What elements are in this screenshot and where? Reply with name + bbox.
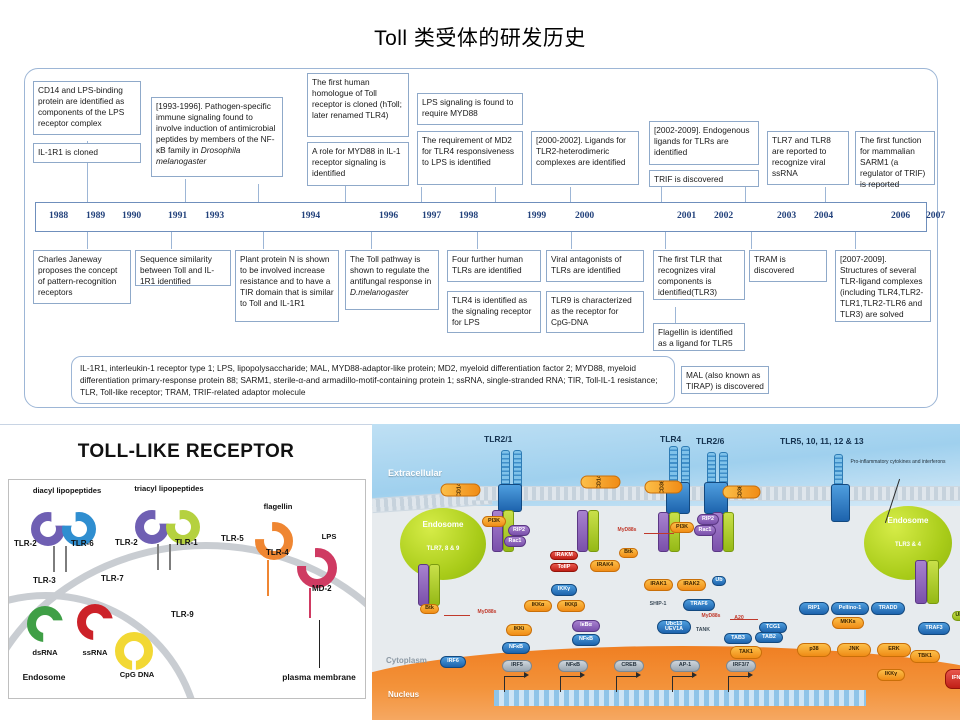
stem bbox=[571, 232, 572, 249]
timeline-box-plant-protein-n: Plant protein N is shown to be involved … bbox=[235, 250, 339, 322]
label-tlr5-etc: TLR5, 10, 11, 12 & 13 bbox=[780, 436, 864, 446]
receptor-tlr2-a: TLR-2 bbox=[14, 539, 37, 548]
receptor-tlr4: TLR-4 bbox=[266, 548, 289, 557]
pathway-node-ikkg: IKKγ bbox=[551, 584, 577, 596]
pathway-node-nfkb-l: NFκB bbox=[502, 642, 530, 654]
timeline-box-lps-myd88: LPS signaling is found to require MYD88 bbox=[417, 93, 523, 125]
tlr5-tm bbox=[831, 484, 850, 522]
ligand-label: LPS bbox=[322, 532, 337, 541]
tlr4-stalk bbox=[309, 588, 311, 618]
tlr2-horseshoe-b bbox=[135, 510, 169, 544]
pathway-node-ubc13: Ubc13 UEV1A bbox=[657, 620, 691, 634]
tf-arrow-head bbox=[636, 672, 641, 678]
ligand-dsrna: dsRNA bbox=[21, 648, 69, 657]
box-text: MAL (also known as TIRAP) is discovered bbox=[686, 370, 764, 391]
slide-root: Toll 类受体的研发历史 CD14 and LPS-binding prote… bbox=[0, 0, 960, 720]
ligand-label: triacyl lipopeptides bbox=[134, 484, 203, 493]
transcription-factor-nfkb-n: NFκB bbox=[558, 660, 588, 672]
pathway-node-cd36: CD36 bbox=[645, 481, 683, 494]
pathway-node-ikkb: IKKβ bbox=[557, 600, 585, 612]
tf-arrow-horizontal bbox=[560, 676, 582, 677]
stem bbox=[87, 232, 88, 249]
pathway-node-p38: p38 bbox=[797, 643, 831, 657]
timeline-box-endogenous-ligands: [2002-2009]. Endogenous ligands for TLRs… bbox=[649, 121, 759, 165]
ligand-flagellin: flagellin bbox=[247, 502, 309, 511]
pathway-node-tank: TANK bbox=[690, 626, 716, 635]
box-text: Flagellin is identified as a ligand for … bbox=[658, 327, 733, 348]
stem bbox=[495, 187, 496, 202]
tlr-signaling-panel: Endosome TLR7, 8 & 9 Endosome TLR3 & 4 E… bbox=[372, 424, 960, 720]
receptor-tlr6: TLR-6 bbox=[71, 539, 94, 548]
tlr6-stalk bbox=[65, 546, 67, 572]
timeline-box-pathogen-specific: [1993-1996]. Pathogen-specific immune si… bbox=[151, 97, 283, 177]
adaptor-myd88-b bbox=[588, 510, 599, 552]
compartment-label: plasma membrane bbox=[282, 672, 356, 682]
year-label: 2000 bbox=[575, 210, 594, 221]
pathway-node-cd14c: CD36 bbox=[723, 486, 761, 499]
tlr2-stalk-b bbox=[157, 544, 159, 570]
label-extracellular: Extracellular bbox=[388, 468, 442, 478]
timeline-box-first-tlr-viral: The first TLR that recognizes viral comp… bbox=[653, 250, 745, 300]
ligand-label: diacyl lipopeptides bbox=[33, 486, 101, 495]
timeline-box-first-human-homologue: The first human homologue of Toll recept… bbox=[307, 73, 409, 137]
timeline-box-md2-tlr4: The requirement of MD2 for TLR4 responsi… bbox=[417, 131, 523, 185]
year-label: 2001 bbox=[677, 210, 696, 221]
box-text: The requirement of MD2 for TLR4 responsi… bbox=[422, 135, 514, 167]
tlr1-stalk bbox=[169, 544, 171, 570]
timeline-box-sarm1: The first function for mammalian SARM1 (… bbox=[855, 131, 935, 185]
box-text: A role for MYD88 in IL-1 receptor signal… bbox=[312, 146, 401, 178]
stem bbox=[345, 184, 346, 202]
ligand-label: ssRNA bbox=[83, 648, 108, 657]
pathway-node-pellino: Pellino-1 bbox=[831, 602, 869, 615]
year-label: 2003 bbox=[777, 210, 796, 221]
timeline-box-sequence-similarity: Sequence similarity between Toll and IL-… bbox=[135, 250, 231, 286]
receptor-label: TLR-4 bbox=[266, 548, 289, 557]
abbreviations-box: IL-1R1, interleukin-1 receptor type 1; L… bbox=[71, 356, 675, 404]
receptor-label: TLR-2 bbox=[115, 538, 138, 547]
stem bbox=[665, 232, 666, 249]
tf-arrow-vertical bbox=[504, 676, 505, 692]
year-axis: 1988 1989 1990 1991 1993 1994 1996 1997 … bbox=[35, 202, 927, 232]
ligand-label: CpG DNA bbox=[120, 670, 155, 679]
pathway-node-tak1: TAK1 bbox=[730, 646, 762, 659]
tlr-heading: TOLL-LIKE RECEPTOR bbox=[0, 441, 372, 463]
pathway-node-nfkb-c: NFκB bbox=[572, 634, 600, 646]
stem bbox=[745, 187, 746, 202]
label-tlr26: TLR2/6 bbox=[696, 436, 724, 446]
stem bbox=[185, 179, 186, 202]
tf-arrow-horizontal bbox=[616, 676, 638, 677]
pathway-node-ifn: IFNβ and IFNα bbox=[945, 669, 960, 689]
box-text: Sequence similarity between Toll and IL-… bbox=[140, 254, 214, 286]
pathway-node-traf6: TRAF6 bbox=[683, 599, 715, 611]
box-text: The first TLR that recognizes viral comp… bbox=[658, 254, 722, 297]
adaptor-mal-c bbox=[658, 512, 669, 552]
pathway-node-pi3k1: PI3K bbox=[482, 516, 506, 527]
label-tlr21: TLR2/1 bbox=[484, 434, 512, 444]
pathway-node-rac1a: Rac1 bbox=[504, 536, 526, 547]
tlr-figure: diacyl lipopeptides TLR-2 TLR-6 triacyl … bbox=[8, 479, 366, 699]
tlr-cartoon-panel: TOLL-LIKE RECEPTOR diacyl lipopeptides T… bbox=[0, 424, 372, 721]
endosome-left-content: TLR7, 8 & 9 bbox=[400, 546, 486, 552]
endosome-left bbox=[400, 508, 486, 580]
year-label: 1990 bbox=[122, 210, 141, 221]
label-cytoplasm: Cytoplasm bbox=[386, 656, 427, 665]
tf-arrow-head bbox=[580, 672, 585, 678]
myd88s-inhibitor-bar-a bbox=[444, 615, 470, 616]
myd88s-inhibitor-bar-b bbox=[644, 533, 674, 534]
ligand-ssrna: ssRNA bbox=[71, 648, 119, 657]
adaptor-tram bbox=[927, 560, 939, 604]
pathway-node-btk2: Btk bbox=[420, 604, 439, 614]
timeline-box-tlr7-tlr8: TLR7 and TLR8 are reported to recognize … bbox=[767, 131, 849, 185]
tf-arrow-head bbox=[524, 672, 529, 678]
timeline-box-four-further-tlrs: Four further human TLRs are identified bbox=[447, 250, 541, 282]
stem bbox=[855, 232, 856, 249]
stem bbox=[371, 232, 372, 249]
pathway-node-irf6: IRF6 bbox=[440, 656, 466, 668]
year-label: 2006 bbox=[891, 210, 910, 221]
pathway-node-mkks: MKKs bbox=[832, 617, 864, 629]
tf-arrow-head bbox=[692, 672, 697, 678]
timeline-panel: CD14 and LPS-binding protein are identif… bbox=[24, 68, 938, 408]
receptor-tlr2-b: TLR-2 bbox=[115, 538, 138, 547]
pathway-node-irakm: IRAKM bbox=[550, 551, 578, 560]
timeline-box-tram: TRAM is discovered bbox=[749, 250, 827, 282]
pathway-node-ship1: SHIP-1 bbox=[643, 600, 673, 609]
box-text: Charles Janeway proposes the concept of … bbox=[38, 254, 117, 297]
endosome-left-title: Endosome bbox=[400, 520, 486, 529]
stem bbox=[258, 184, 259, 202]
ligand-label: dsRNA bbox=[32, 648, 57, 657]
timeline-box-myd88-role: A role for MYD88 in IL-1 receptor signal… bbox=[307, 142, 409, 186]
timeline-box-toll-antifungal: The Toll pathway is shown to regulate th… bbox=[345, 250, 439, 310]
box-text: The first function for mammalian SARM1 (… bbox=[860, 135, 925, 189]
tf-arrow-head bbox=[748, 672, 753, 678]
box-text: The first human homologue of Toll recept… bbox=[312, 77, 402, 120]
pathway-node-irak2: IRAK2 bbox=[677, 579, 706, 591]
pathway-node-tollip: ToIIP bbox=[550, 563, 578, 572]
timeline-box-structures-solved: [2007-2009]. Structures of several TLR-l… bbox=[835, 250, 931, 322]
compartment-label: Endosome bbox=[23, 672, 66, 682]
year-label: 1989 bbox=[86, 210, 105, 221]
timeline-box-cd14: CD14 and LPS-binding protein are identif… bbox=[33, 81, 141, 135]
year-label: 1993 bbox=[205, 210, 224, 221]
pathway-node-pi3k2: PI3K bbox=[670, 522, 694, 533]
ligand-label: flagellin bbox=[264, 502, 293, 511]
pathway-node-ikki: IKKi bbox=[506, 624, 532, 636]
box-text: Four further human TLRs are identified bbox=[452, 254, 523, 275]
proinflammatory-annotation: Pro-inflammatory cytokines and interfero… bbox=[850, 460, 946, 466]
receptor-label: TLR-7 bbox=[101, 574, 124, 583]
pathway-node-ub2: Ub bbox=[952, 611, 960, 621]
receptor-label: MD-2 bbox=[312, 584, 332, 593]
pathway-node-cd14b: CD14 bbox=[581, 476, 621, 489]
stem bbox=[477, 232, 478, 249]
pathway-node-ikkg2: IKKγ bbox=[877, 669, 905, 681]
timeline-box-janeway: Charles Janeway proposes the concept of … bbox=[33, 250, 131, 304]
pathway-node-rac1b: Rac1 bbox=[694, 525, 716, 536]
dna-strand bbox=[494, 690, 866, 706]
adaptor-myd88-d bbox=[723, 512, 734, 552]
box-text: LPS signaling is found to require MYD88 bbox=[422, 97, 513, 118]
pathway-node-ikka: IKKα bbox=[524, 600, 552, 612]
timeline-box-flagellin-tlr5: Flagellin is identified as a ligand for … bbox=[653, 323, 745, 351]
timeline-box-trif: TRIF is discovered bbox=[649, 170, 759, 187]
pathway-node-tab3: TAB3 bbox=[724, 633, 752, 644]
year-label: 1994 bbox=[301, 210, 320, 221]
transcription-factor-creb: CREB bbox=[614, 660, 644, 672]
tf-arrow-vertical bbox=[560, 676, 561, 692]
receptor-label: TLR-6 bbox=[71, 539, 94, 548]
year-label: 1998 bbox=[459, 210, 478, 221]
pathway-node-rip1: RIP1 bbox=[799, 602, 829, 615]
myd88s-label-c: MyD88s bbox=[692, 614, 730, 620]
box-text: TLR7 and TLR8 are reported to recognize … bbox=[772, 135, 831, 178]
endosome-right-content: TLR3 & 4 bbox=[864, 542, 952, 548]
receptor-tlr5: TLR-5 bbox=[221, 534, 244, 543]
box-text: TRIF is discovered bbox=[654, 174, 723, 184]
pathway-node-rip2b: RIP2 bbox=[697, 514, 719, 525]
box-text: IL-1R1 is cloned bbox=[38, 147, 98, 157]
box-text: [2000-2002]. Ligands for TLR2-heterodime… bbox=[536, 135, 626, 167]
stem bbox=[171, 232, 172, 249]
pathway-node-tbk1: TBK1 bbox=[910, 650, 940, 663]
tf-arrow-vertical bbox=[672, 676, 673, 692]
receptor-label: TLR-1 bbox=[175, 538, 198, 547]
box-text: [2002-2009]. Endogenous ligands for TLRs… bbox=[654, 125, 750, 157]
stem bbox=[570, 187, 571, 202]
year-label: 2007 bbox=[926, 210, 945, 221]
box-text: Plant protein N is shown to be involved … bbox=[240, 254, 334, 308]
transcription-factor-irf5: IRF5 bbox=[502, 660, 532, 672]
receptor-label: TLR-3 bbox=[33, 576, 56, 585]
year-label: 2002 bbox=[714, 210, 733, 221]
year-label: 2004 bbox=[814, 210, 833, 221]
ligand-lps: LPS bbox=[309, 532, 349, 541]
tf-arrow-vertical bbox=[616, 676, 617, 692]
endosome-right-title: Endosome bbox=[864, 516, 952, 525]
tlr4-horseshoe bbox=[297, 548, 337, 588]
page-title: Toll 类受体的研发历史 bbox=[0, 22, 960, 52]
pathway-node-ub1: Ub bbox=[712, 576, 726, 586]
box-text: CD14 and LPS-binding protein are identif… bbox=[38, 85, 124, 128]
ligand-cpgdna: CpG DNA bbox=[107, 670, 167, 679]
adaptor-endo-left2 bbox=[429, 564, 440, 606]
tf-arrow-horizontal bbox=[728, 676, 750, 677]
box-text: TLR4 is identified as the signaling rece… bbox=[452, 295, 531, 327]
adaptor-mal-b bbox=[577, 510, 588, 552]
plasma-membrane-pointer bbox=[319, 620, 320, 668]
year-label: 1988 bbox=[49, 210, 68, 221]
pathway-node-btk1: Btk bbox=[619, 548, 638, 558]
myd88s-label-b: MyD88s bbox=[608, 528, 646, 534]
box-text: TRAM is discovered bbox=[754, 254, 794, 275]
tf-arrow-vertical bbox=[728, 676, 729, 692]
year-label: 1996 bbox=[379, 210, 398, 221]
pathway-node-tradd: TRADD bbox=[871, 602, 905, 615]
receptor-md2: MD-2 bbox=[312, 584, 332, 593]
box-text: Viral antagonists of TLRs are identified bbox=[551, 254, 621, 275]
year-label: 1991 bbox=[168, 210, 187, 221]
box-text: [2007-2009]. Structures of several TLR-l… bbox=[840, 254, 923, 319]
pathway-node-ikba: IκBα bbox=[572, 620, 600, 632]
timeline-box-viral-antagonists: Viral antagonists of TLRs are identified bbox=[546, 250, 644, 282]
transcription-factor-irf37: IRF3/7 bbox=[726, 660, 756, 672]
receptor-tlr1: TLR-1 bbox=[175, 538, 198, 547]
year-label: 1997 bbox=[422, 210, 441, 221]
label-tlr4: TLR4 bbox=[660, 434, 681, 444]
pathway-node-cd14a: CD14 bbox=[441, 484, 481, 497]
timeline-box-tlr4-signaling: TLR4 is identified as the signaling rece… bbox=[447, 291, 541, 333]
receptor-tlr9: TLR-9 bbox=[171, 610, 194, 619]
timeline-box-tlr2-heterodimeric: [2000-2002]. Ligands for TLR2-heterodime… bbox=[531, 131, 639, 185]
stem bbox=[661, 187, 662, 202]
stem bbox=[825, 187, 826, 202]
adaptor-trif bbox=[915, 560, 927, 604]
timeline-box-il1r1-cloned: IL-1R1 is cloned bbox=[33, 143, 141, 163]
myd88s-label-a: MyD88s bbox=[468, 610, 506, 616]
year-label: 1999 bbox=[527, 210, 546, 221]
pathway-node-irak4: IRAK4 bbox=[590, 560, 620, 572]
ligand-diacyl: diacyl lipopeptides bbox=[29, 486, 105, 495]
pathway-node-traf3: TRAF3 bbox=[918, 622, 950, 635]
label-endosome: Endosome bbox=[13, 672, 75, 682]
label-nucleus: Nucleus bbox=[388, 690, 419, 699]
tlr2-stalk-a bbox=[53, 546, 55, 572]
stem bbox=[751, 232, 752, 249]
transcription-factor-ap1: AP-1 bbox=[670, 660, 700, 672]
tlr5-stalk bbox=[267, 560, 269, 596]
pathway-node-irak1: IRAK1 bbox=[644, 579, 673, 591]
box-text: TLR9 is characterized as the receptor fo… bbox=[551, 295, 632, 327]
ligand-triacyl: triacyl lipopeptides bbox=[131, 484, 207, 493]
receptor-label: TLR-9 bbox=[171, 610, 194, 619]
pathway-node-erk: ERK bbox=[877, 643, 911, 657]
receptor-tlr7: TLR-7 bbox=[101, 574, 124, 583]
receptor-label: TLR-5 bbox=[221, 534, 244, 543]
tf-arrow-horizontal bbox=[504, 676, 526, 677]
pathway-node-tab2: TAB2 bbox=[755, 632, 783, 643]
label-plasma-membrane: plasma membrane bbox=[277, 672, 361, 682]
tf-arrow-horizontal bbox=[672, 676, 694, 677]
pathway-node-a20: A20 bbox=[728, 614, 750, 623]
receptor-label: TLR-2 bbox=[14, 539, 37, 548]
adaptor-endo-left bbox=[418, 564, 429, 606]
timeline-box-mal-tirap: MAL (also known as TIRAP) is discovered bbox=[681, 366, 769, 394]
timeline-box-tlr9-cpg: TLR9 is characterized as the receptor fo… bbox=[546, 291, 644, 333]
pathway-node-jnk: JNK bbox=[837, 643, 871, 657]
tlr21-tm bbox=[498, 484, 522, 512]
stem bbox=[421, 187, 422, 202]
receptor-tlr3: TLR-3 bbox=[33, 576, 56, 585]
stem bbox=[675, 307, 676, 323]
stem bbox=[263, 232, 264, 249]
pathway-node-rip2a: RIP2 bbox=[508, 525, 530, 536]
